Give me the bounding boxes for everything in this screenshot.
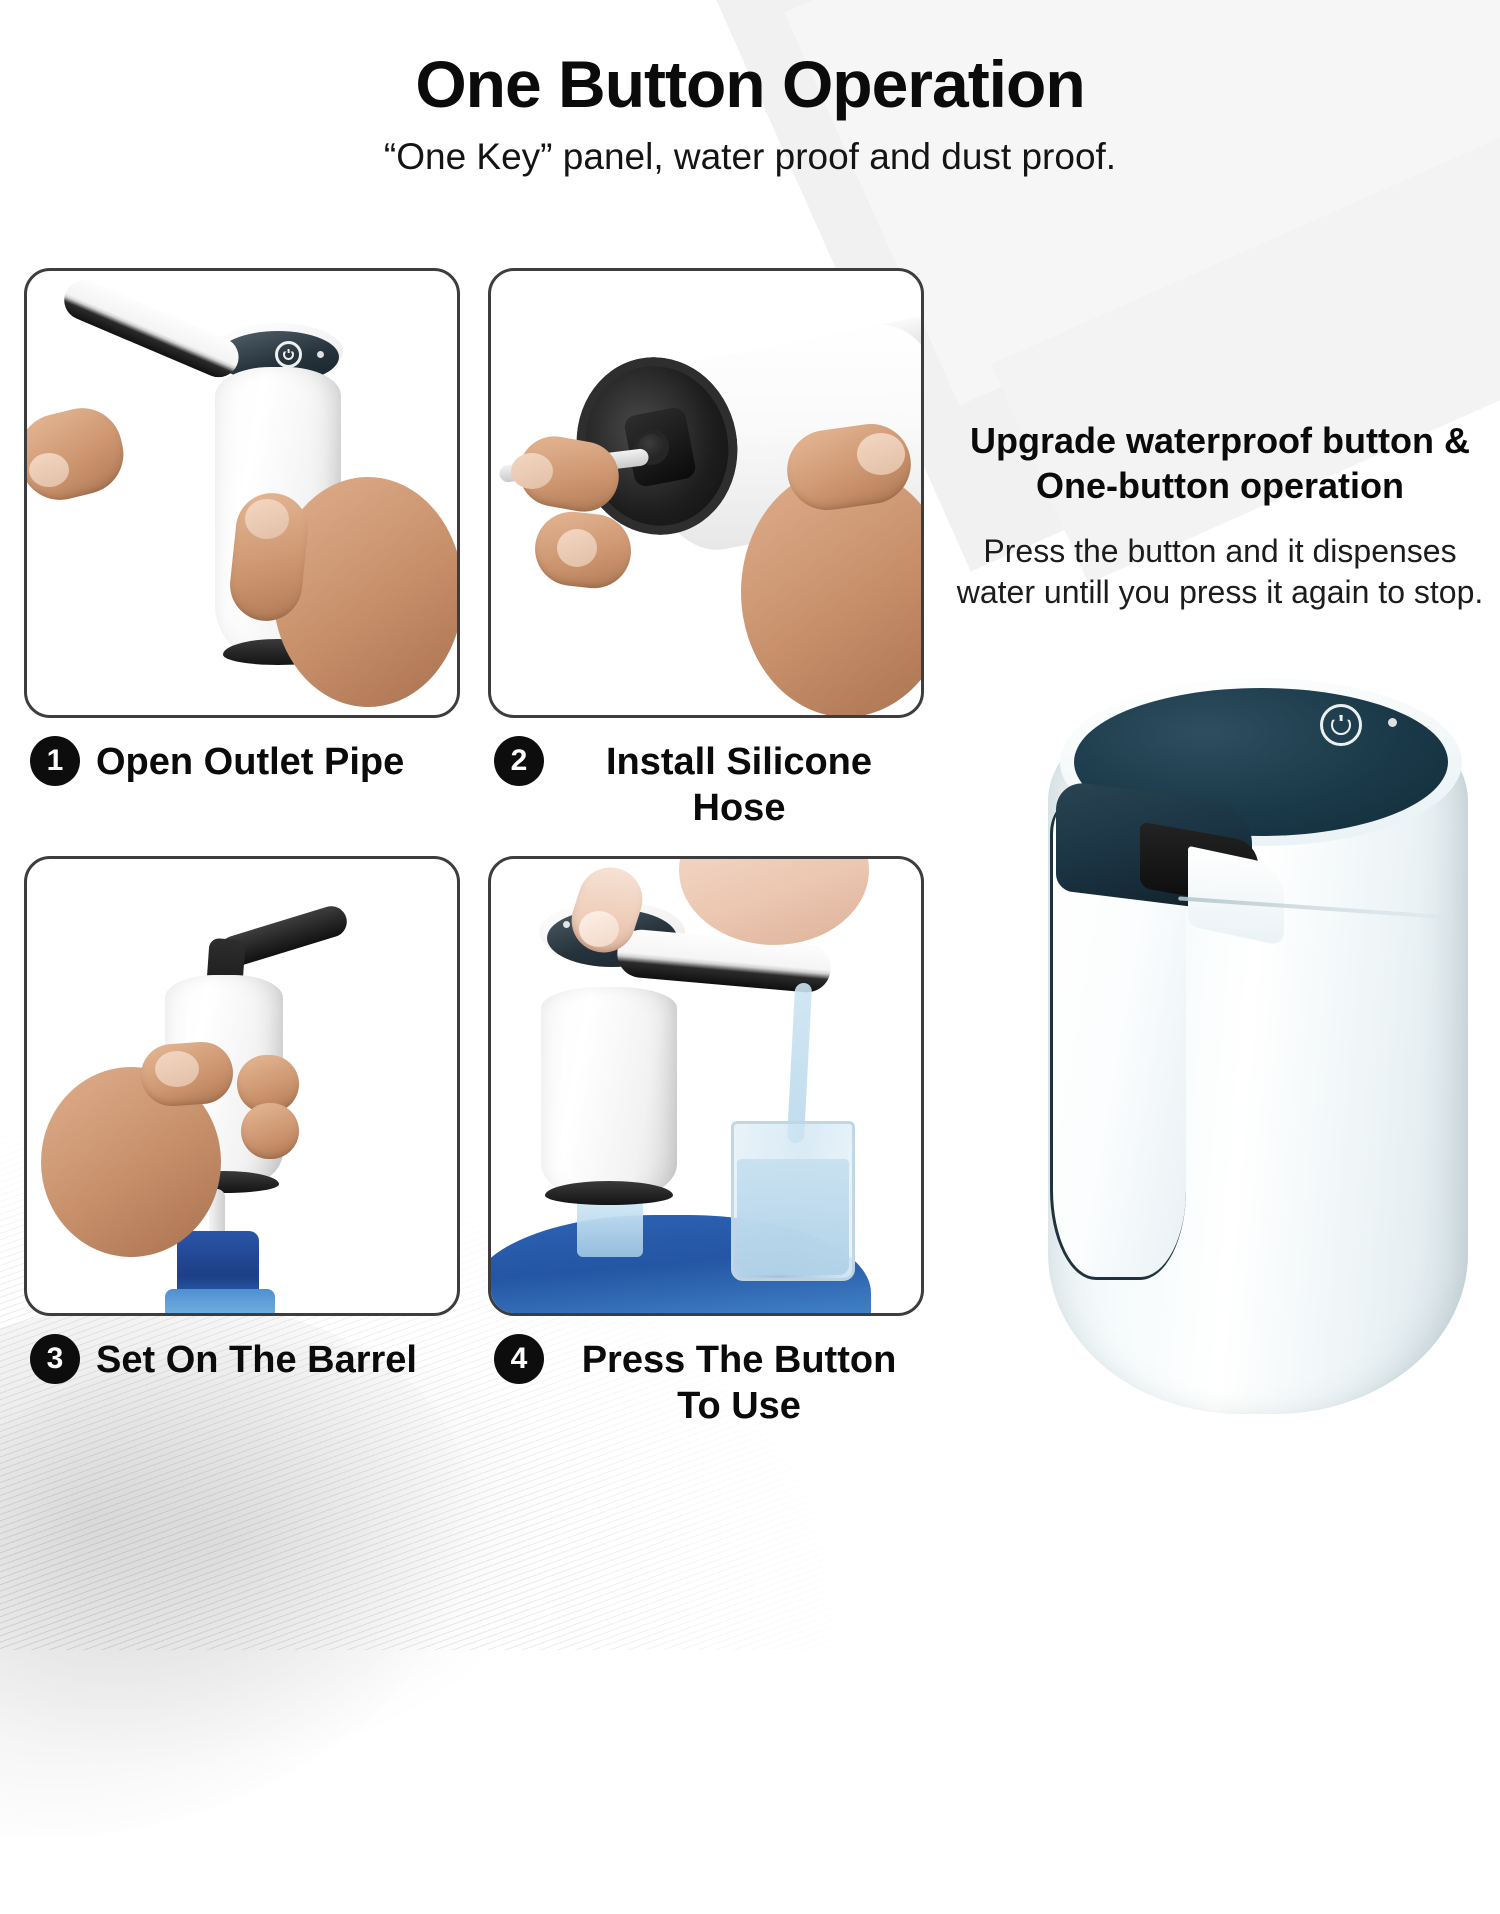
step-caption-1: 1 Open Outlet Pipe <box>24 736 460 786</box>
water-barrel-body <box>165 1289 275 1316</box>
page-title: One Button Operation <box>0 46 1500 122</box>
ring-finger <box>241 1103 299 1159</box>
feature-heading: Upgrade waterproof button & One-button o… <box>942 418 1498 509</box>
fingernail <box>579 911 619 947</box>
step-card-4: 4 Press The Button To Use <box>488 856 924 1430</box>
step-card-2: 2 Install Silicone Hose <box>488 268 924 832</box>
step-badge-3: 3 <box>30 1334 80 1384</box>
step-label-4: Press The Button To Use <box>560 1334 918 1430</box>
step-row-bottom: 3 Set On The Barrel <box>24 856 924 1430</box>
step-label-2: Install Silicone Hose <box>560 736 918 832</box>
step-badge-4: 4 <box>494 1334 544 1384</box>
step-photo-3 <box>24 856 460 1316</box>
feature-text-block: Upgrade waterproof button & One-button o… <box>942 418 1498 613</box>
pump-base <box>545 1181 673 1205</box>
water-barrel-neck <box>577 1199 643 1257</box>
step-badge-1: 1 <box>30 736 80 786</box>
step-photo-1 <box>24 268 460 718</box>
fingernail <box>155 1051 199 1087</box>
led-dot-icon <box>563 921 570 928</box>
step-caption-3: 3 Set On The Barrel <box>24 1334 460 1384</box>
thumbnail <box>857 433 905 475</box>
feature-body: Press the button and it dispenses water … <box>942 531 1498 613</box>
step-photo-4 <box>488 856 924 1316</box>
illustration-install-silicone-hose <box>491 271 921 715</box>
illustration-open-outlet-pipe <box>27 271 457 715</box>
hero-product-image <box>1020 660 1500 1460</box>
step-photo-2 <box>488 268 924 718</box>
step-card-1: 1 Open Outlet Pipe <box>24 268 460 832</box>
step-label-1: Open Outlet Pipe <box>96 736 404 785</box>
water-stream <box>787 983 812 1143</box>
fingernail <box>511 453 553 489</box>
step-card-3: 3 Set On The Barrel <box>24 856 460 1430</box>
step-label-3: Set On The Barrel <box>96 1334 417 1383</box>
step-badge-2: 2 <box>494 736 544 786</box>
step-row-top: 1 Open Outlet Pipe <box>24 268 924 832</box>
led-dot-icon <box>1388 718 1397 727</box>
step-grid: 1 Open Outlet Pipe <box>24 268 924 1429</box>
power-icon <box>275 341 302 368</box>
illustration-press-button-to-use <box>491 859 921 1313</box>
illustration-set-on-barrel <box>27 859 457 1313</box>
thumbnail <box>245 499 289 539</box>
hand <box>679 856 869 945</box>
led-dot-icon <box>317 351 324 358</box>
water-in-glass <box>737 1159 849 1275</box>
page-subtitle: “One Key” panel, water proof and dust pr… <box>0 136 1500 178</box>
outlet-pipe-spout <box>58 274 245 383</box>
step-caption-2: 2 Install Silicone Hose <box>488 736 924 832</box>
power-icon <box>1320 704 1362 746</box>
fingernail-2 <box>557 529 597 567</box>
step-caption-4: 4 Press The Button To Use <box>488 1334 924 1430</box>
fingernail <box>29 453 69 487</box>
pump-body <box>541 987 677 1197</box>
